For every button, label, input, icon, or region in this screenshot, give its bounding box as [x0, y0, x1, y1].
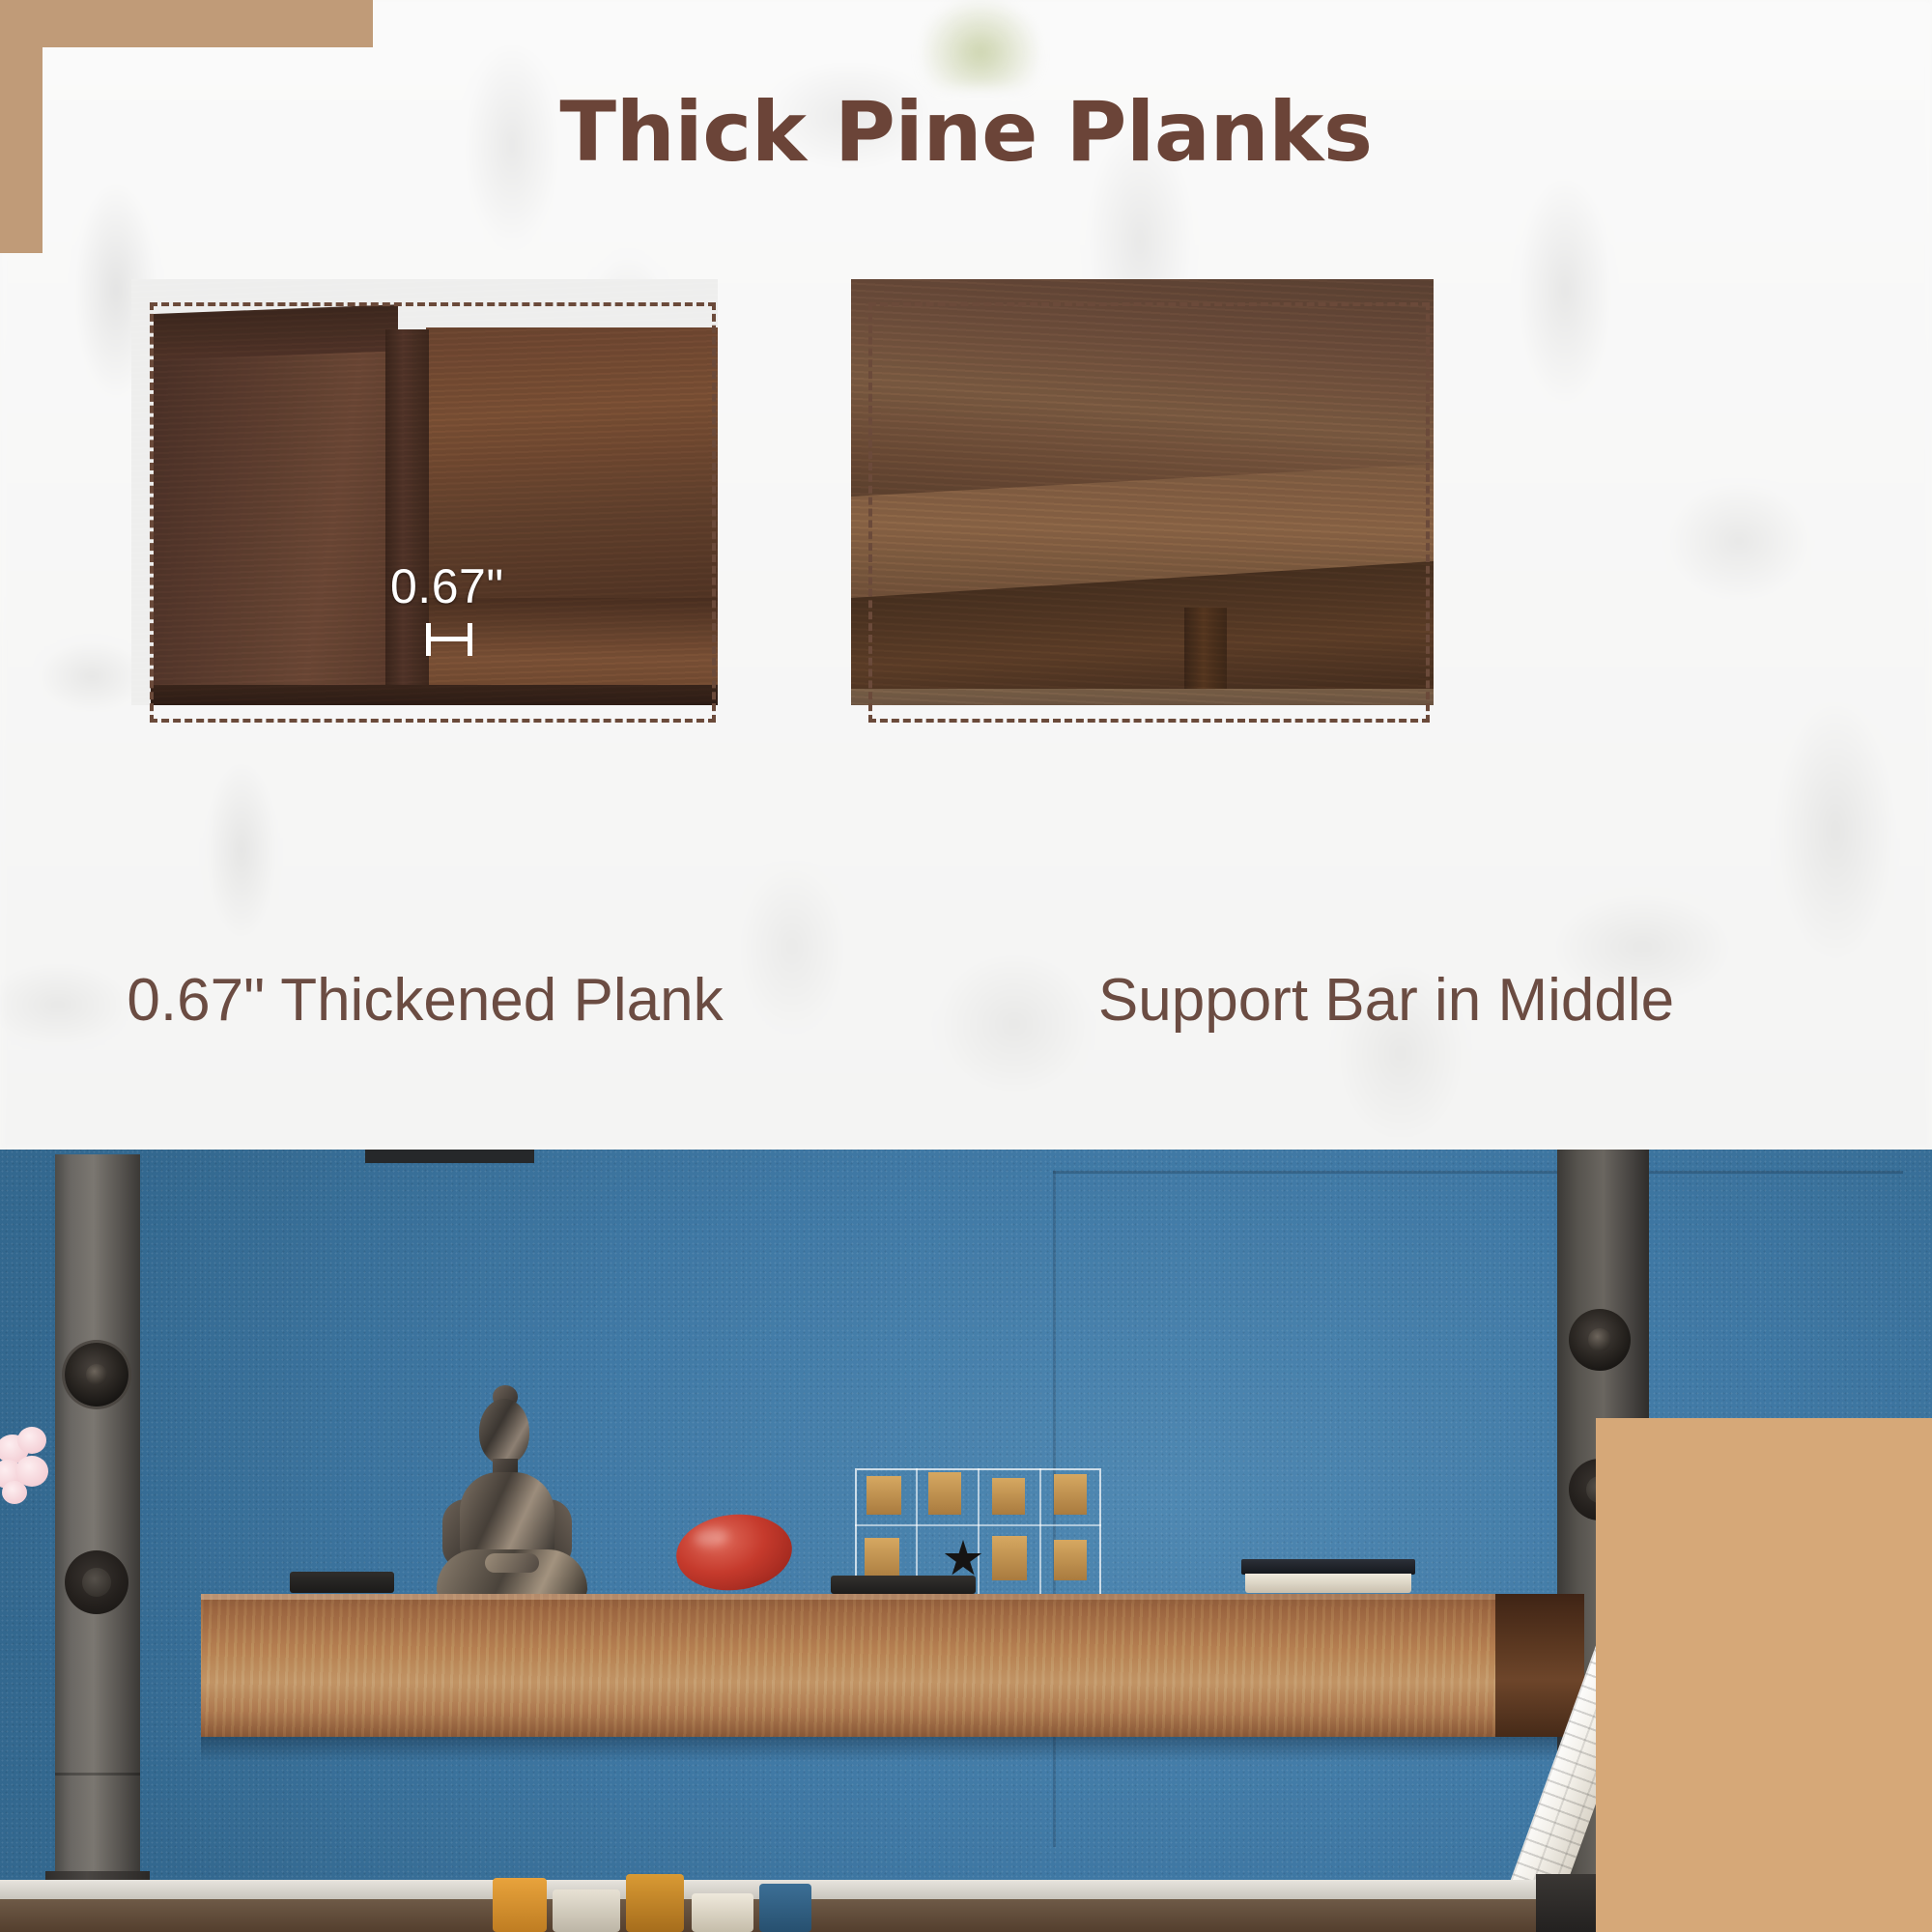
- product-feature-image: Thick Pine Planks 0.67": [0, 0, 1932, 1932]
- speaker-driver-icon: [65, 1343, 128, 1406]
- top-feature-section: Thick Pine Planks 0.67": [0, 0, 1932, 1150]
- green-leaf-accent: [923, 0, 1038, 87]
- corner-accent-top-horizontal: [0, 0, 373, 47]
- speaker-tower-left: [55, 1154, 140, 1922]
- wooden-toy-blocks: [464, 1864, 869, 1932]
- floating-shelf: [201, 1594, 1582, 1737]
- corner-accent-bottom-right: [1596, 1418, 1932, 1932]
- dimension-marker-icon: [426, 623, 472, 656]
- caption-support-bar: Support Bar in Middle: [840, 971, 1932, 1031]
- cherry-blossom-sprig: [0, 1425, 60, 1512]
- page-title: Thick Pine Planks: [0, 89, 1932, 177]
- shelf-plaque: [290, 1572, 394, 1593]
- buddha-statue: [435, 1399, 589, 1602]
- speaker-driver-icon: [1569, 1309, 1631, 1371]
- book: [1241, 1559, 1415, 1594]
- shelf-small-box: [831, 1576, 976, 1594]
- dashed-outline-left: [150, 302, 716, 723]
- dimension-label: 0.67": [390, 558, 504, 614]
- speaker-driver-icon: [65, 1550, 128, 1614]
- wall-seam: [1053, 1171, 1903, 1174]
- ceiling-strip: [365, 1150, 534, 1163]
- dashed-outline-right: [868, 302, 1430, 723]
- caption-thickened-plank: 0.67" Thickened Plank: [0, 971, 850, 1031]
